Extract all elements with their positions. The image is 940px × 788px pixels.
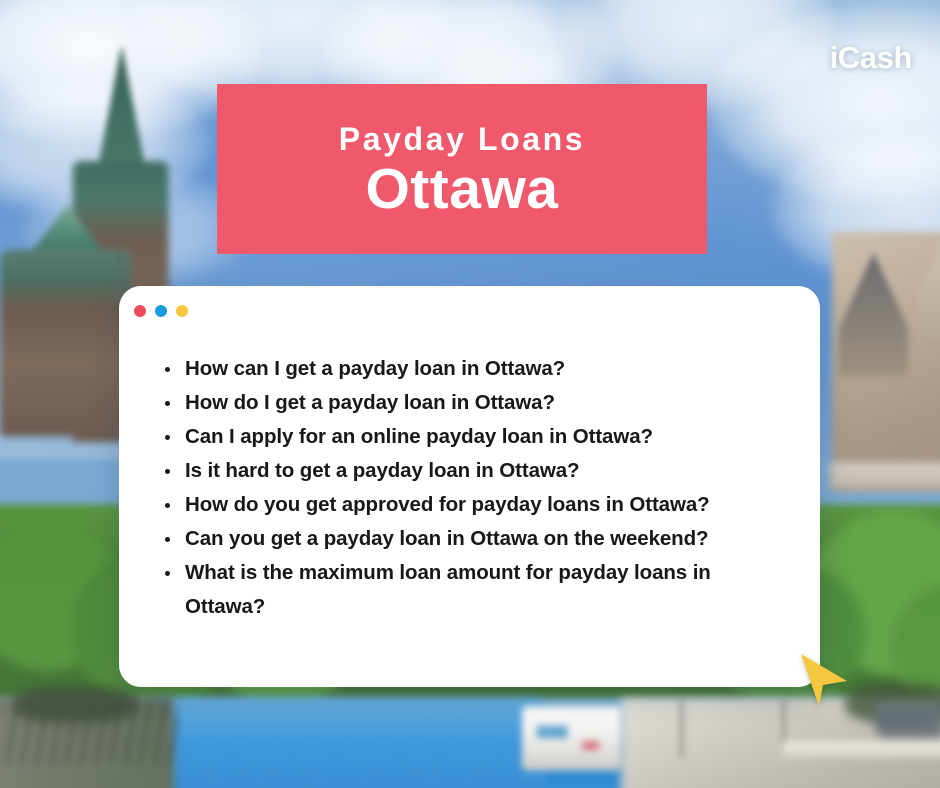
maximize-dot-icon[interactable] <box>176 305 188 317</box>
list-item[interactable]: How do you get approved for payday loans… <box>162 488 794 522</box>
parliament-flagpole <box>117 249 121 303</box>
faq-list: How can I get a payday loan in Ottawa? H… <box>162 352 794 624</box>
minimize-dot-icon[interactable] <box>155 305 167 317</box>
title-banner: Payday Loans Ottawa <box>217 84 707 254</box>
list-item[interactable]: Is it hard to get a payday loan in Ottaw… <box>162 454 794 488</box>
poster-canvas: iCash Payday Loans Ottawa How can I get … <box>0 0 940 788</box>
shrub-shadow <box>12 687 137 722</box>
icash-logo: iCash <box>830 42 912 73</box>
stone-wall-right <box>830 463 940 490</box>
boat-marking <box>582 741 599 749</box>
list-item[interactable]: What is the maximum loan amount for payd… <box>162 556 794 624</box>
list-item[interactable]: Can I apply for an online payday loan in… <box>162 420 794 454</box>
canal-water-highlight <box>158 698 543 788</box>
faq-card: How can I get a payday loan in Ottawa? H… <box>119 286 820 687</box>
close-dot-icon[interactable] <box>134 305 146 317</box>
list-item[interactable]: How can I get a payday loan in Ottawa? <box>162 352 794 386</box>
list-item[interactable]: How do I get a payday loan in Ottawa? <box>162 386 794 420</box>
list-item[interactable]: Can you get a payday loan in Ottawa on t… <box>162 522 794 556</box>
parliament-tower-left <box>0 249 131 436</box>
window-controls <box>134 305 188 317</box>
banner-kicker-text: Payday Loans <box>339 122 585 157</box>
lamp-post <box>782 700 785 746</box>
arrow-cursor-icon <box>797 652 849 708</box>
walkway-kerb <box>782 741 940 758</box>
parked-vehicle <box>876 702 940 737</box>
lamp-post <box>680 700 683 758</box>
boat-window <box>537 726 568 738</box>
banner-city-text: Ottawa <box>365 159 558 219</box>
